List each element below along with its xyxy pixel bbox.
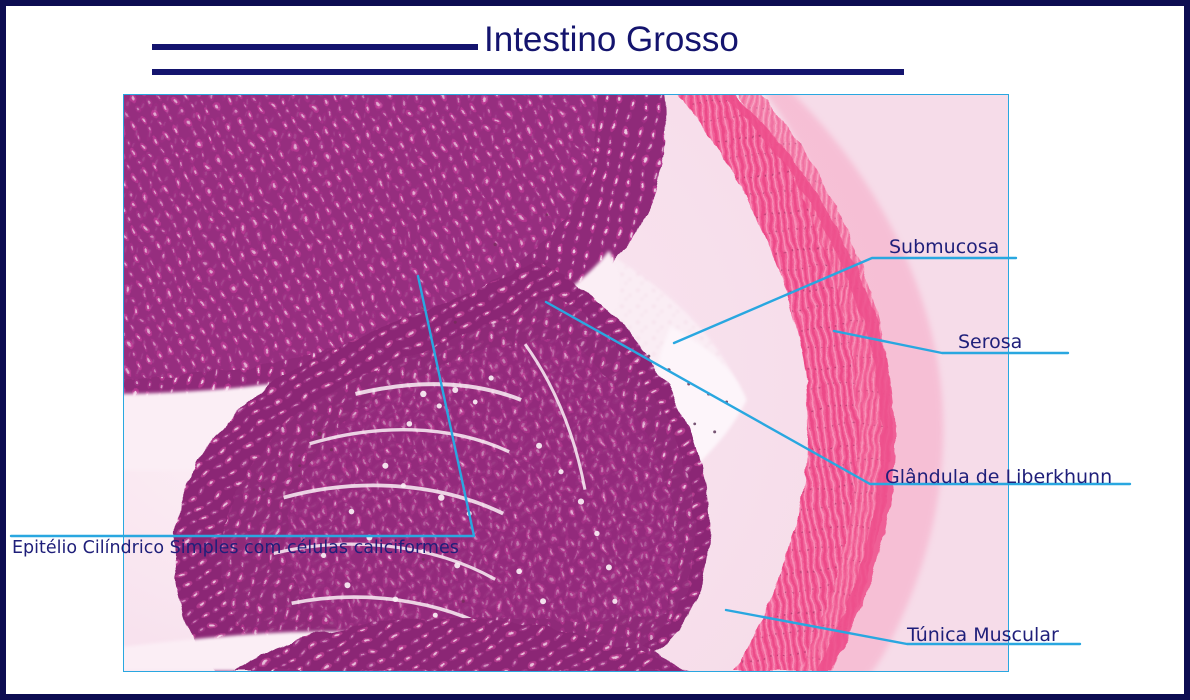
label-epitelio-cilindrico-simples: Epitélio Cilíndrico Simples com células …	[12, 540, 459, 558]
micrograph-frame	[123, 94, 1009, 672]
label-glandula-de-liberkhunn: Glândula de Liberkhunn	[885, 468, 1112, 487]
micrograph-image	[124, 95, 1008, 671]
label-serosa: Serosa	[958, 333, 1022, 352]
tissue-illustration	[124, 95, 1008, 671]
label-submucosa: Submucosa	[889, 238, 999, 257]
slide-page: Intestino Grosso	[0, 0, 1190, 700]
page-title: Intestino Grosso	[484, 22, 739, 57]
title-rule-bottom	[152, 69, 904, 75]
label-tunica-muscular: Túnica Muscular	[907, 626, 1059, 645]
title-rule-top	[152, 44, 478, 50]
